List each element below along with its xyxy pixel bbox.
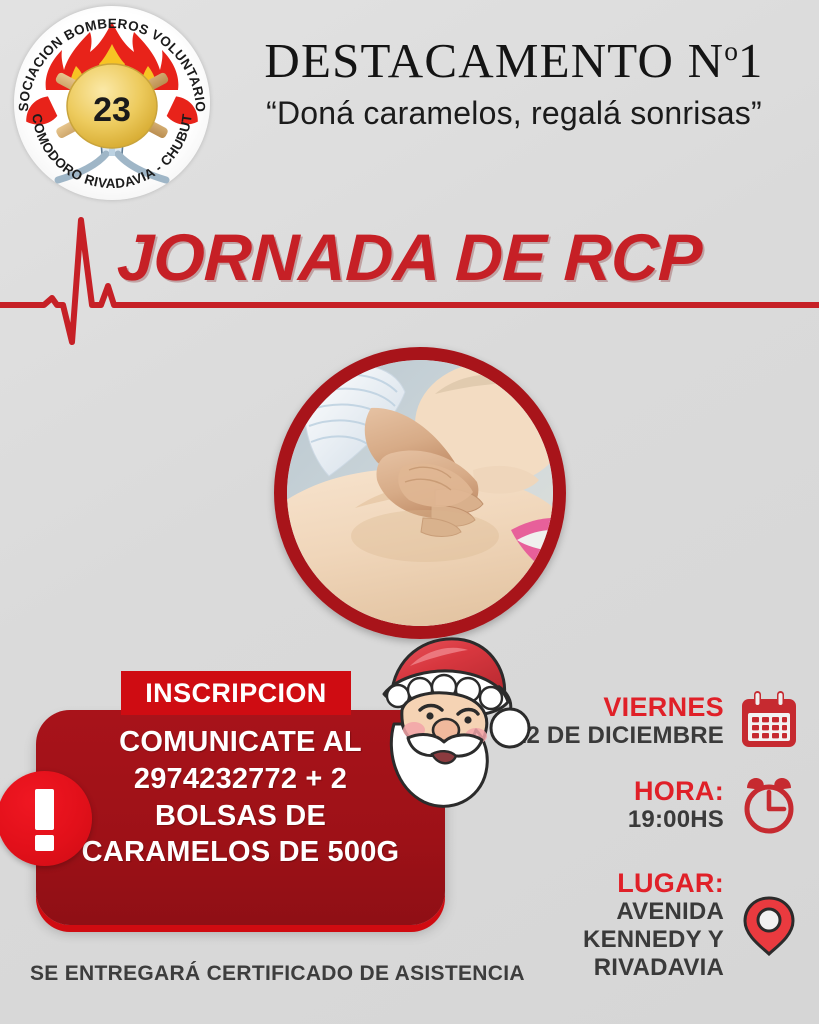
logo-badge-number: 23 xyxy=(93,91,131,129)
date-value: 12 DE DICIEMBRE xyxy=(513,722,724,750)
alert-badge xyxy=(0,771,92,866)
logo-graphic: 23 ASOCIACION BOMBEROS VOLUNTARIOS COMOD… xyxy=(6,4,218,202)
main-title: JORNADA DE RCP xyxy=(0,219,819,295)
santa-claus-icon xyxy=(358,632,538,824)
map-pin-icon xyxy=(738,894,800,956)
slogan: “Doná caramelos, regalá sonrisas” xyxy=(216,95,812,132)
page-title-number: 1 xyxy=(738,33,764,88)
place-label: LUGAR: xyxy=(500,868,724,898)
place-value-line2: RIVADAVIA xyxy=(500,954,724,982)
time-value: 19:00HS xyxy=(628,806,724,834)
time-label: HORA: xyxy=(628,776,724,806)
info-row-place: LUGAR: AVENIDA KENNEDY Y RIVADAVIA xyxy=(500,868,800,982)
place-value: AVENIDA KENNEDY Y RIVADAVIA xyxy=(500,898,724,981)
header-block: DESTACAMENTO No1 “Doná caramelos, regalá… xyxy=(216,36,812,132)
cpr-photo-inner xyxy=(287,360,553,626)
bomberos-logo: 23 ASOCIACION BOMBEROS VOLUNTARIOS COMOD… xyxy=(6,4,218,202)
date-label: VIERNES xyxy=(513,692,724,722)
footer-note: SE ENTREGARÁ CERTIFICADO DE ASISTENCIA xyxy=(30,962,525,986)
alarm-clock-icon xyxy=(738,774,800,836)
poster-canvas: 23 ASOCIACION BOMBEROS VOLUNTARIOS COMOD… xyxy=(0,0,819,1024)
info-row-date: VIERNES 12 DE DICIEMBRE xyxy=(500,690,800,752)
exclamation-icon xyxy=(0,771,92,866)
event-info-column: VIERNES 12 DE DICIEMBRE xyxy=(500,690,800,988)
page-title: DESTACAMENTO No1 xyxy=(216,36,812,87)
time-texts: HORA: 19:00HS xyxy=(628,776,724,834)
cpr-illustration xyxy=(287,360,553,626)
place-value-line1: AVENIDA KENNEDY Y xyxy=(583,898,724,953)
cpr-photo xyxy=(274,347,566,639)
page-title-text: DESTACAMENTO N xyxy=(264,33,724,88)
calendar-icon xyxy=(738,690,800,752)
date-texts: VIERNES 12 DE DICIEMBRE xyxy=(513,692,724,750)
place-texts: LUGAR: AVENIDA KENNEDY Y RIVADAVIA xyxy=(500,868,724,982)
inscripcion-line-4: CARAMELOS DE 500G xyxy=(36,834,445,871)
inscripcion-banner: INSCRIPCION xyxy=(121,671,351,715)
page-title-ordinal: o xyxy=(724,36,738,66)
info-row-time: HORA: 19:00HS xyxy=(500,774,800,836)
inscripcion-banner-label: INSCRIPCION xyxy=(145,678,326,709)
